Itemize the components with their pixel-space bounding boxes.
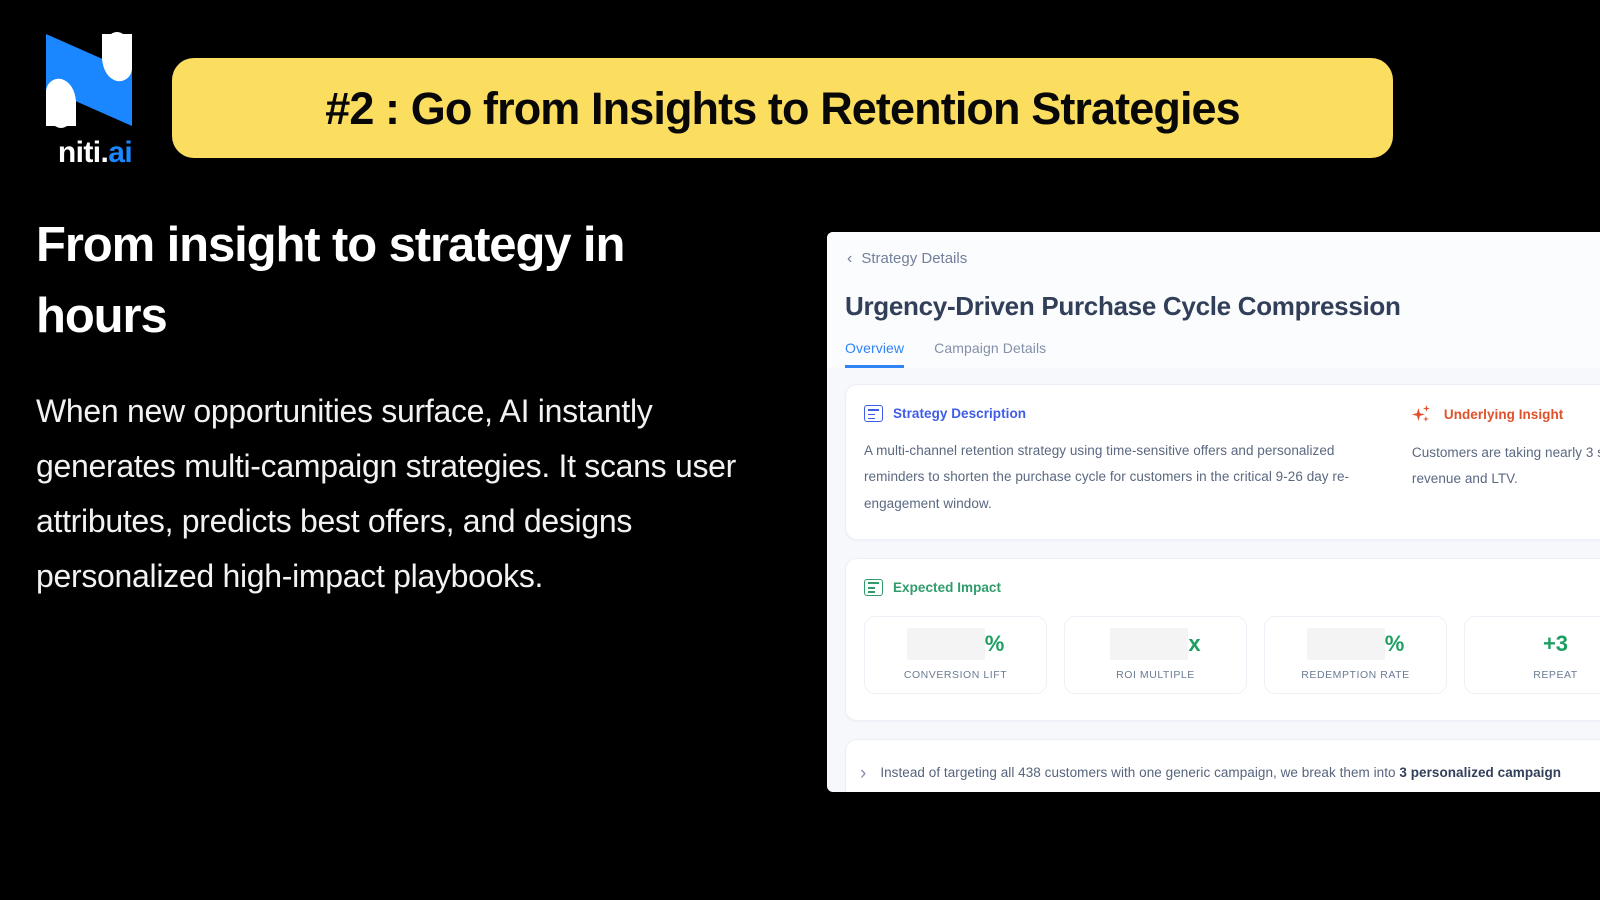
metric-redemption-rate: % REDEMPTION RATE bbox=[1264, 616, 1447, 694]
metric-label: REDEMPTION RATE bbox=[1301, 669, 1409, 681]
brand-wordmark: niti.ai bbox=[34, 138, 156, 168]
underlying-insight-block: Underlying Insight Customers are taking … bbox=[1390, 405, 1600, 517]
brand-name-primary: niti. bbox=[58, 136, 108, 169]
strategy-description-header: Strategy Description bbox=[864, 405, 1370, 422]
breadcrumb[interactable]: ‹ Strategy Details bbox=[845, 250, 1600, 267]
strategy-title: Urgency-Driven Purchase Cycle Compressio… bbox=[845, 291, 1600, 322]
strategy-description-text: A multi-channel retention strategy using… bbox=[864, 438, 1370, 517]
chevron-left-icon[interactable]: ‹ bbox=[847, 251, 852, 267]
metric-repeat: +3 REPEAT bbox=[1464, 616, 1600, 694]
metric-unit: % bbox=[1385, 633, 1405, 655]
metric-value: % bbox=[1307, 628, 1405, 660]
metric-conversion-lift: % CONVERSION LIFT bbox=[864, 616, 1047, 694]
metric-label: CONVERSION LIFT bbox=[904, 669, 1007, 681]
chevron-right-icon[interactable]: › bbox=[860, 760, 866, 787]
page-title: From insight to strategy in hours bbox=[36, 210, 766, 352]
headline-banner: #2 : Go from Insights to Retention Strat… bbox=[172, 58, 1393, 158]
underlying-insight-text: Customers are taking nearly 3 slowdown i… bbox=[1412, 440, 1600, 493]
niti-n-logomark-icon bbox=[40, 26, 138, 134]
description-box-icon bbox=[864, 405, 883, 422]
left-text-column: From insight to strategy in hours When n… bbox=[36, 210, 796, 604]
metric-unit: x bbox=[1188, 633, 1200, 655]
metric-value: x bbox=[1110, 628, 1200, 660]
redacted-value bbox=[1307, 628, 1385, 660]
panel-header: ‹ Strategy Details Urgency-Driven Purcha… bbox=[827, 232, 1600, 368]
metric-value: % bbox=[907, 628, 1005, 660]
strategy-description-block: Strategy Description A multi-channel ret… bbox=[846, 405, 1390, 517]
brand-logo: niti.ai bbox=[34, 26, 156, 174]
breakdown-emphasis: 3 personalized campaign bbox=[1399, 765, 1561, 780]
body-paragraph: When new opportunities surface, AI insta… bbox=[36, 384, 791, 604]
tab-campaign-details[interactable]: Campaign Details bbox=[934, 340, 1046, 368]
campaign-breakdown-card[interactable]: › Instead of targeting all 438 customers… bbox=[845, 739, 1600, 792]
metrics-row: % CONVERSION LIFT x ROI MULTIPLE bbox=[864, 616, 1600, 694]
tab-overview[interactable]: Overview bbox=[845, 340, 904, 368]
underlying-insight-label: Underlying Insight bbox=[1444, 407, 1563, 422]
redacted-value bbox=[1110, 628, 1188, 660]
expected-impact-label: Expected Impact bbox=[893, 580, 1001, 595]
expected-impact-card: Expected Impact % CONVERSION LIFT x bbox=[845, 558, 1600, 721]
strategy-details-panel: ‹ Strategy Details Urgency-Driven Purcha… bbox=[827, 232, 1600, 792]
banner-title: #2 : Go from Insights to Retention Strat… bbox=[325, 86, 1240, 131]
metric-value: +3 bbox=[1543, 628, 1568, 660]
tab-bar: Overview Campaign Details bbox=[845, 340, 1600, 368]
sparkle-icon bbox=[1412, 405, 1434, 424]
slide-canvas: niti.ai #2 : Go from Insights to Retenti… bbox=[0, 0, 1600, 900]
campaign-breakdown-text: Instead of targeting all 438 customers w… bbox=[880, 760, 1561, 786]
description-insight-card: Strategy Description A multi-channel ret… bbox=[845, 384, 1600, 540]
redacted-value bbox=[907, 628, 985, 660]
metric-roi-multiple: x ROI MULTIPLE bbox=[1064, 616, 1247, 694]
panel-body: Strategy Description A multi-channel ret… bbox=[827, 368, 1600, 792]
breadcrumb-label[interactable]: Strategy Details bbox=[861, 250, 967, 267]
breakdown-lead: Instead of targeting all 438 customers w… bbox=[880, 765, 1399, 780]
metric-label: ROI MULTIPLE bbox=[1116, 669, 1195, 681]
metric-label: REPEAT bbox=[1533, 669, 1578, 681]
expected-impact-header: Expected Impact bbox=[864, 579, 1600, 596]
impact-box-icon bbox=[864, 579, 883, 596]
strategy-description-label: Strategy Description bbox=[893, 406, 1026, 421]
brand-name-accent: ai bbox=[108, 136, 132, 169]
metric-unit: % bbox=[985, 633, 1005, 655]
underlying-insight-header: Underlying Insight bbox=[1412, 405, 1600, 424]
